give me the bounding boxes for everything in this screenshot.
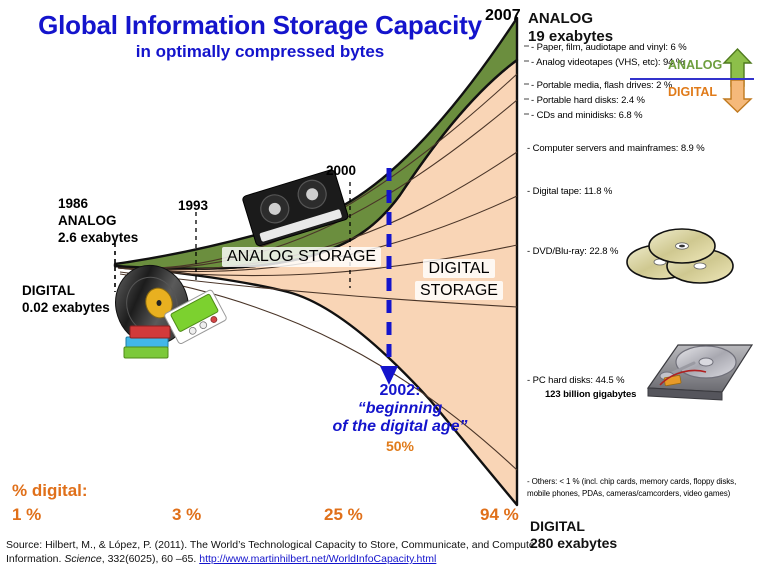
label-digital-1986: DIGITAL — [22, 283, 75, 300]
percent-digital-1986: 1 % — [12, 505, 41, 525]
callout-2002-quote-line2: of the digital age” — [310, 418, 490, 436]
page-title: Global Information Storage Capacity — [30, 12, 490, 39]
others-item-line2: mobile phones, PDAs, cameras/camcorders,… — [527, 489, 730, 498]
source-citation-detail: , 332(6025), 60 –65. — [102, 553, 200, 565]
label-year-1986: 1986 — [58, 196, 88, 213]
digital-storage-label: DIGITAL STORAGE — [415, 258, 503, 301]
label-digital-1986-value: 0.02 exabytes — [22, 300, 110, 317]
analog-heading: ANALOG — [528, 10, 593, 27]
compact-discs-icon — [627, 229, 733, 283]
digital-item-5: - DVD/Blu-ray: 22.8 % — [527, 246, 618, 257]
digital-item-1: - Portable hard disks: 2.4 % — [531, 95, 645, 106]
analog-item-1: - Analog videotapes (VHS, etc): 94 % — [531, 57, 684, 68]
source-link[interactable]: http://www.martinhilbert.net/WorldInfoCa… — [199, 553, 436, 565]
label-year-2000: 2000 — [326, 163, 356, 180]
label-analog-1986-value: 2.6 exabytes — [58, 230, 138, 247]
digital-item-0: - Portable media, flash drives: 2 % — [531, 80, 672, 91]
digital-item-4: - Digital tape: 11.8 % — [527, 186, 612, 197]
digital-heading: DIGITAL — [530, 518, 585, 534]
label-year-2007: 2007 — [485, 7, 521, 25]
hard-disk-icon — [648, 345, 752, 400]
digital-storage-label-line2: STORAGE — [415, 281, 503, 300]
analog-storage-label: ANALOG STORAGE — [222, 247, 381, 267]
pc-hard-disks-item: - PC hard disks: 44.5 % — [527, 375, 625, 386]
callout-2002-year: 2002: — [310, 382, 490, 400]
others-item-line1: - Others: < 1 % (incl. chip cards, memor… — [527, 477, 736, 486]
digital-tag: DIGITAL — [668, 85, 717, 99]
arrow-down-icon — [724, 80, 751, 112]
percent-digital-1993: 3 % — [172, 505, 201, 525]
callout-2002-percent: 50% — [310, 438, 490, 454]
percent-digital-label: % digital: — [12, 481, 88, 501]
digital-storage-label-line1: DIGITAL — [423, 259, 494, 278]
analog-digital-divider — [630, 78, 754, 80]
percent-digital-2007: 94 % — [480, 505, 519, 525]
callout-2002: 2002: “beginning of the digital age” 50% — [310, 382, 490, 454]
digital-item-3: - Computer servers and mainframes: 8.9 % — [527, 143, 705, 154]
digital-item-2: - CDs and minidisks: 6.8 % — [531, 110, 642, 121]
books-icon — [124, 326, 170, 358]
callout-2002-quote-line1: “beginning — [310, 400, 490, 418]
label-analog-1986: ANALOG — [58, 213, 117, 230]
page-subtitle: in optimally compressed bytes — [30, 42, 490, 62]
analog-item-0: - Paper, film, audiotape and vinyl: 6 % — [531, 42, 687, 53]
infographic-canvas: Global Information Storage Capacity in o… — [0, 0, 760, 570]
label-year-1993: 1993 — [178, 198, 208, 215]
percent-digital-2000: 25 % — [324, 505, 363, 525]
source-journal: Science — [64, 553, 101, 565]
analog-tag: ANALOG — [668, 58, 722, 72]
source-citation: Source: Hilbert, M., & López, P. (2011).… — [6, 538, 546, 566]
pc-hard-disks-subvalue: 123 billion gigabytes — [545, 389, 636, 400]
bullet-leader-ticks — [524, 46, 529, 114]
